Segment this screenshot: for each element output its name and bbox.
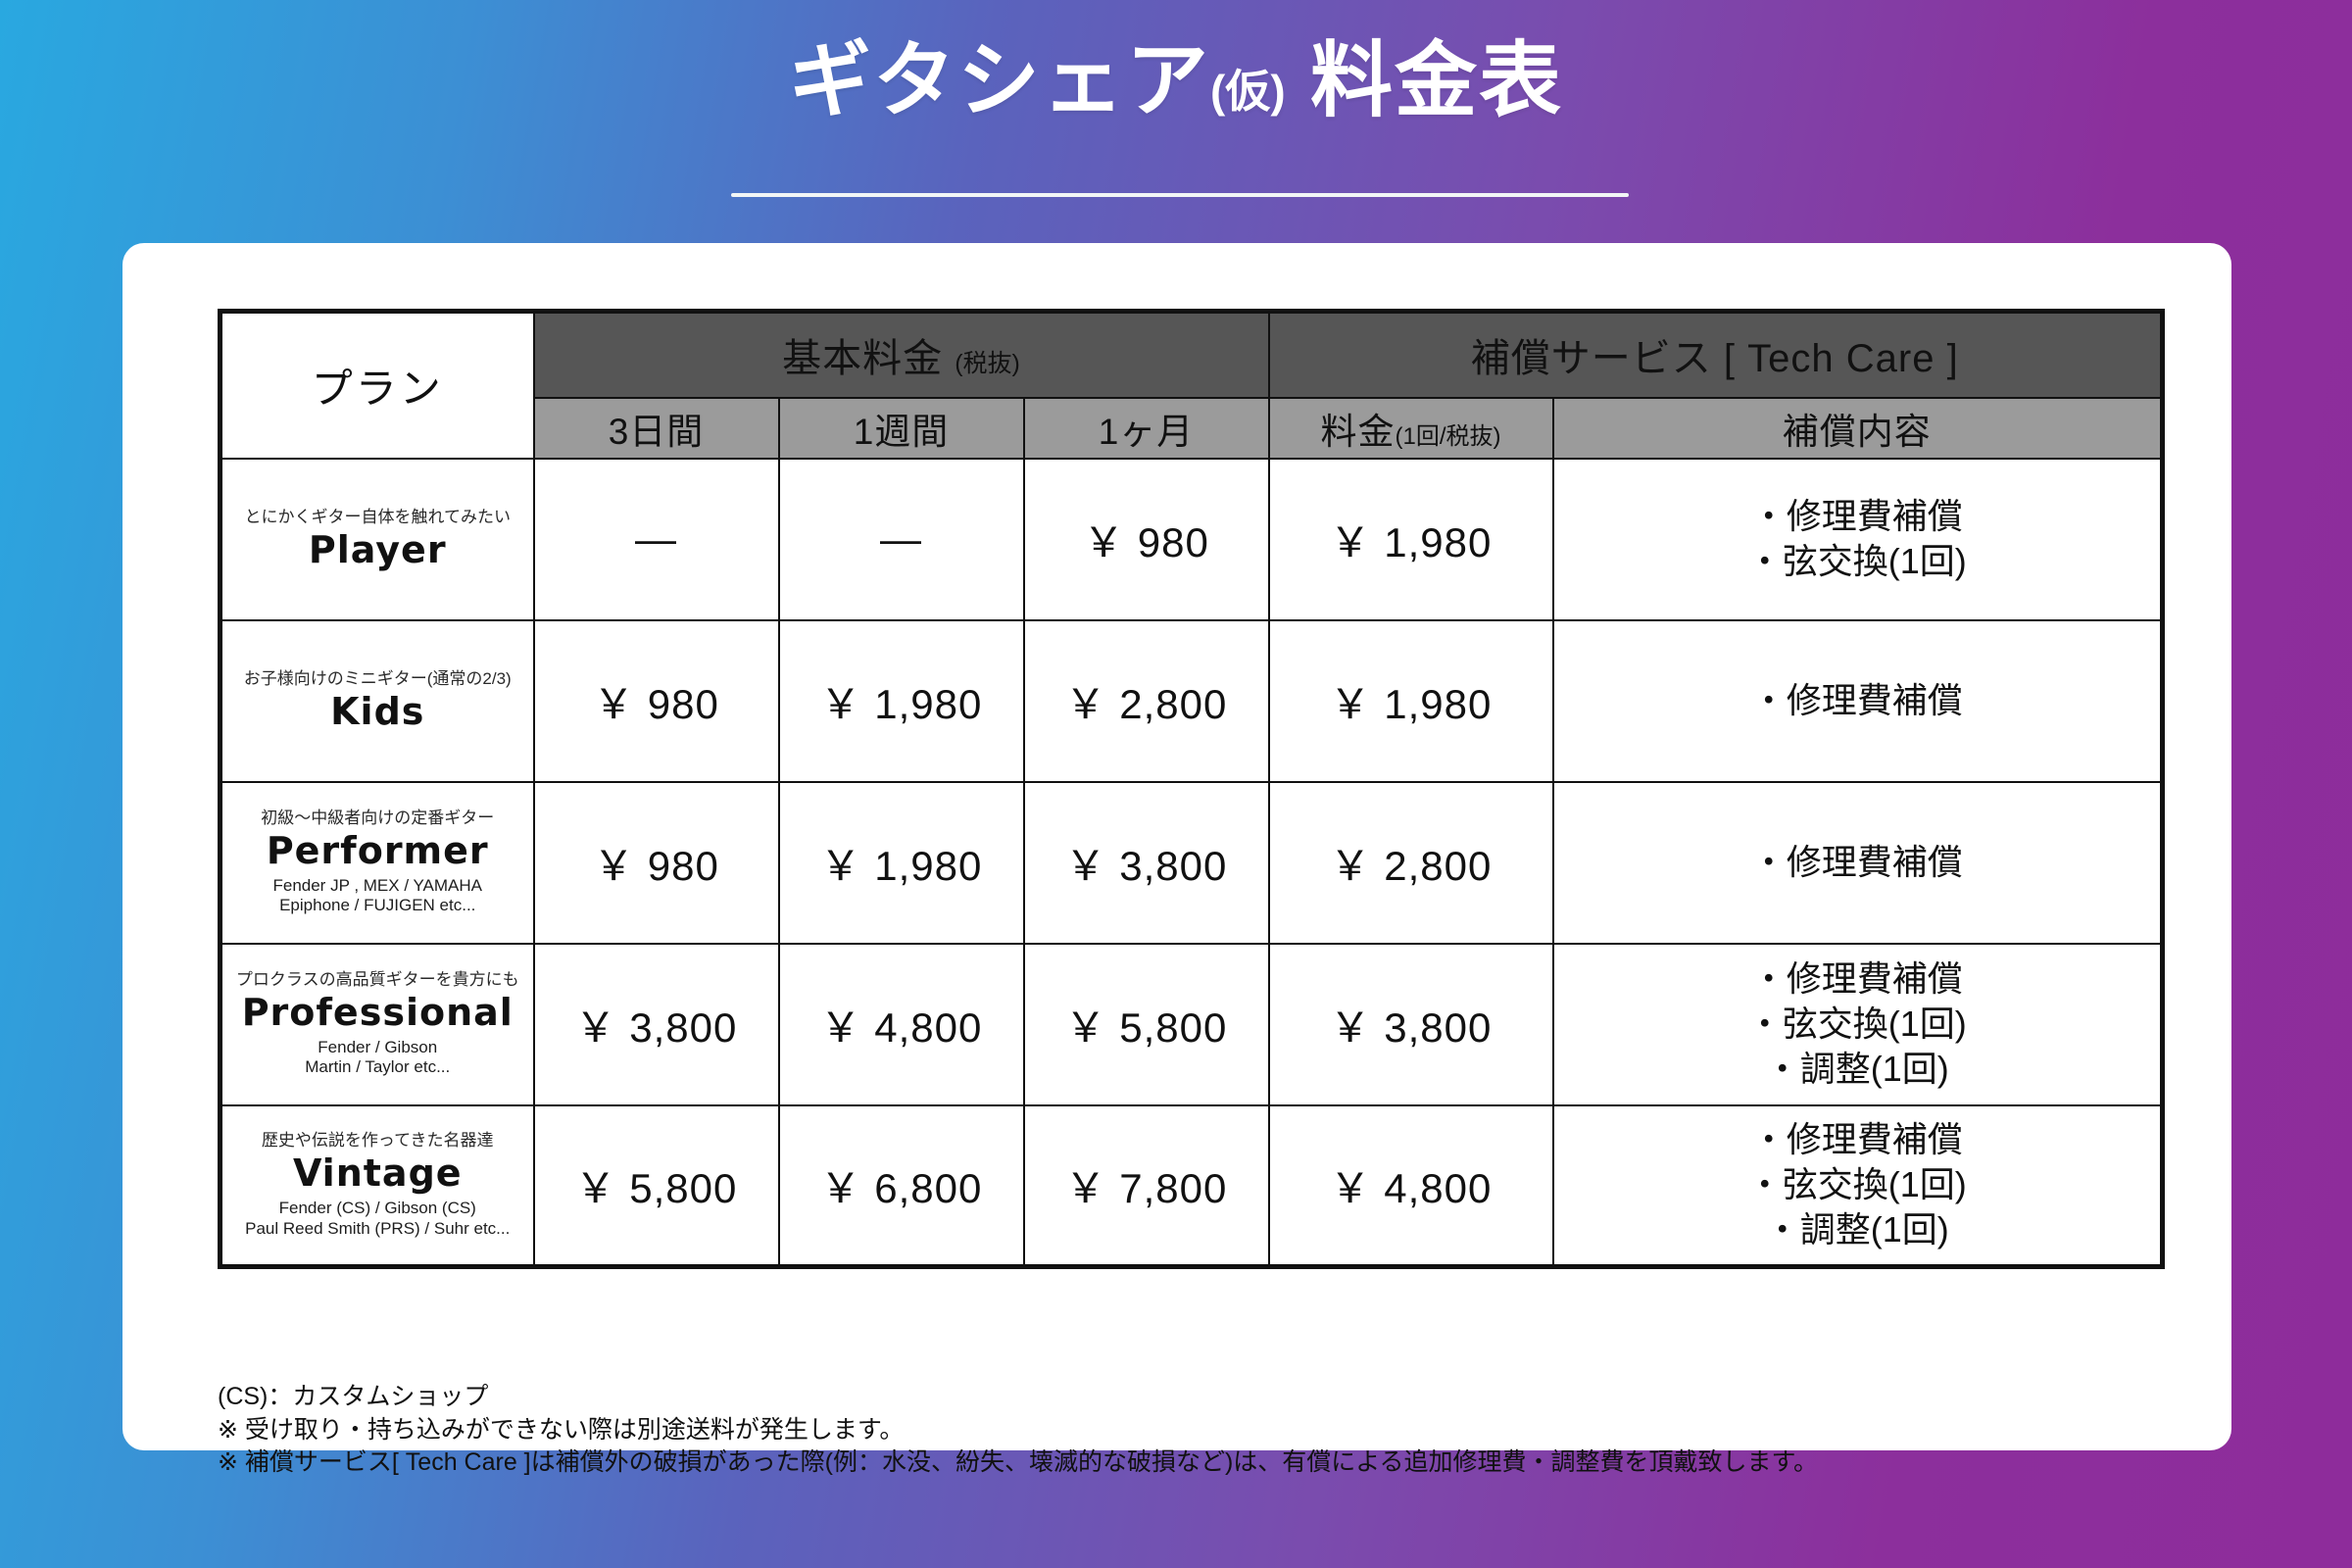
- plan-description: とにかくギター自体を触れてみたい: [226, 508, 529, 526]
- table-row: プロクラスの高品質ギターを貴方にもProfessionalFender / Gi…: [220, 944, 2163, 1105]
- plan-name: Vintage: [226, 1152, 529, 1195]
- price-techcare: ￥ 2,800: [1269, 782, 1553, 944]
- coverage-cell: ・修理費補償・弦交換(1回): [1553, 459, 2163, 620]
- price-techcare: ￥ 3,800: [1269, 944, 1553, 1105]
- plan-cell: 歴史や伝説を作ってきた名器達VintageFender (CS) / Gibso…: [220, 1105, 534, 1267]
- footnotes: (CS)：カスタムショップ※ 受け取り・持ち込みができない際は別途送料が発生しま…: [218, 1381, 1818, 1480]
- price-3days: ￥ 5,800: [534, 1105, 779, 1267]
- footnote-line: ※ 受け取り・持ち込みができない際は別途送料が発生します。: [218, 1414, 1818, 1446]
- price-1month: ￥ 5,800: [1024, 944, 1269, 1105]
- coverage-cell: ・修理費補償: [1553, 782, 2163, 944]
- price-3days: ￥ 980: [534, 620, 779, 782]
- column-header-1month: 1ヶ月: [1024, 398, 1269, 459]
- plan-name: Kids: [226, 691, 529, 733]
- pricing-card: プラン 基本料金 (税抜) 補償サービス [ Tech Care ] 3日間 1…: [122, 243, 2231, 1450]
- page-title-main: ギタシェア: [789, 34, 1210, 126]
- footnote-line: (CS)：カスタムショップ: [218, 1381, 1818, 1413]
- price-techcare: ￥ 1,980: [1269, 620, 1553, 782]
- column-header-1week: 1週間: [779, 398, 1024, 459]
- coverage-cell: ・修理費補償: [1553, 620, 2163, 782]
- price-1week: ￥ 1,980: [779, 782, 1024, 944]
- plan-brands: Fender (CS) / Gibson (CS)Paul Reed Smith…: [226, 1199, 529, 1239]
- title-divider: [731, 193, 1629, 197]
- plan-brands: Fender JP , MEX / YAMAHAEpiphone / FUJIG…: [226, 876, 529, 916]
- page-title-suffix: 料金表: [1310, 34, 1563, 126]
- pricing-table-body: とにかくギター自体を触れてみたいPlayer——￥ 980￥ 1,980・修理費…: [220, 459, 2163, 1267]
- plan-description: 初級〜中級者向けの定番ギター: [226, 808, 529, 827]
- plan-description: 歴史や伝説を作ってきた名器達: [226, 1131, 529, 1150]
- group-basic-label: 基本料金: [782, 337, 943, 380]
- table-row: 初級〜中級者向けの定番ギターPerformerFender JP , MEX /…: [220, 782, 2163, 944]
- table-header-row-top: プラン 基本料金 (税抜) 補償サービス [ Tech Care ]: [220, 312, 2163, 398]
- price-techcare: ￥ 1,980: [1269, 459, 1553, 620]
- price-1month: ￥ 980: [1024, 459, 1269, 620]
- plan-name: Performer: [226, 830, 529, 872]
- price-3days: ￥ 980: [534, 782, 779, 944]
- table-row: とにかくギター自体を触れてみたいPlayer——￥ 980￥ 1,980・修理費…: [220, 459, 2163, 620]
- techcare-fee-note: (1回/税抜): [1396, 423, 1501, 450]
- group-basic-tax-note: (税抜): [955, 350, 1020, 377]
- plan-description: お子様向けのミニギター(通常の2/3): [226, 669, 529, 688]
- plan-description: プロクラスの高品質ギターを貴方にも: [226, 970, 529, 989]
- page-header: ギタシェア(仮) 料金表: [0, 33, 2352, 128]
- price-1week: ￥ 4,800: [779, 944, 1024, 1105]
- pricing-table: プラン 基本料金 (税抜) 補償サービス [ Tech Care ] 3日間 1…: [218, 309, 2165, 1269]
- column-header-3days: 3日間: [534, 398, 779, 459]
- coverage-item: ・調整(1回): [1554, 1047, 2161, 1092]
- column-header-techcare-fee: 料金(1回/税抜): [1269, 398, 1553, 459]
- techcare-fee-label: 料金: [1321, 412, 1396, 452]
- plan-cell: お子様向けのミニギター(通常の2/3)Kids: [220, 620, 534, 782]
- price-3days: ￥ 3,800: [534, 944, 779, 1105]
- coverage-cell: ・修理費補償・弦交換(1回)・調整(1回): [1553, 944, 2163, 1105]
- plan-name: Professional: [226, 992, 529, 1034]
- plan-brands: Fender / GibsonMartin / Taylor etc...: [226, 1038, 529, 1078]
- coverage-item: ・弦交換(1回): [1554, 539, 2161, 584]
- column-header-plan: プラン: [220, 312, 534, 459]
- price-1month: ￥ 7,800: [1024, 1105, 1269, 1267]
- column-group-basic-fee: 基本料金 (税抜): [534, 312, 1269, 398]
- plan-cell: 初級〜中級者向けの定番ギターPerformerFender JP , MEX /…: [220, 782, 534, 944]
- price-1week: ￥ 6,800: [779, 1105, 1024, 1267]
- price-techcare: ￥ 4,800: [1269, 1105, 1553, 1267]
- price-1week: —: [779, 459, 1024, 620]
- coverage-item: ・修理費補償: [1554, 678, 2161, 723]
- coverage-item: ・修理費補償: [1554, 1117, 2161, 1162]
- table-row: お子様向けのミニギター(通常の2/3)Kids￥ 980￥ 1,980￥ 2,8…: [220, 620, 2163, 782]
- price-1month: ￥ 2,800: [1024, 620, 1269, 782]
- price-1month: ￥ 3,800: [1024, 782, 1269, 944]
- column-header-coverage: 補償内容: [1553, 398, 2163, 459]
- coverage-item: ・修理費補償: [1554, 840, 2161, 885]
- plan-name: Player: [226, 529, 529, 571]
- page-title-paren: (仮): [1210, 66, 1286, 117]
- plan-cell: プロクラスの高品質ギターを貴方にもProfessionalFender / Gi…: [220, 944, 534, 1105]
- price-1week: ￥ 1,980: [779, 620, 1024, 782]
- coverage-item: ・調整(1回): [1554, 1207, 2161, 1252]
- footnote-line: ※ 補償サービス[ Tech Care ]は補償外の破損があった際(例：水没、紛…: [218, 1446, 1818, 1479]
- coverage-item: ・修理費補償: [1554, 494, 2161, 539]
- page-title: ギタシェア(仮) 料金表: [0, 33, 2352, 128]
- coverage-item: ・弦交換(1回): [1554, 1162, 2161, 1207]
- plan-cell: とにかくギター自体を触れてみたいPlayer: [220, 459, 534, 620]
- coverage-item: ・修理費補償: [1554, 956, 2161, 1002]
- column-group-tech-care: 補償サービス [ Tech Care ]: [1269, 312, 2163, 398]
- price-3days: —: [534, 459, 779, 620]
- table-row: 歴史や伝説を作ってきた名器達VintageFender (CS) / Gibso…: [220, 1105, 2163, 1267]
- coverage-item: ・弦交換(1回): [1554, 1002, 2161, 1047]
- coverage-cell: ・修理費補償・弦交換(1回)・調整(1回): [1553, 1105, 2163, 1267]
